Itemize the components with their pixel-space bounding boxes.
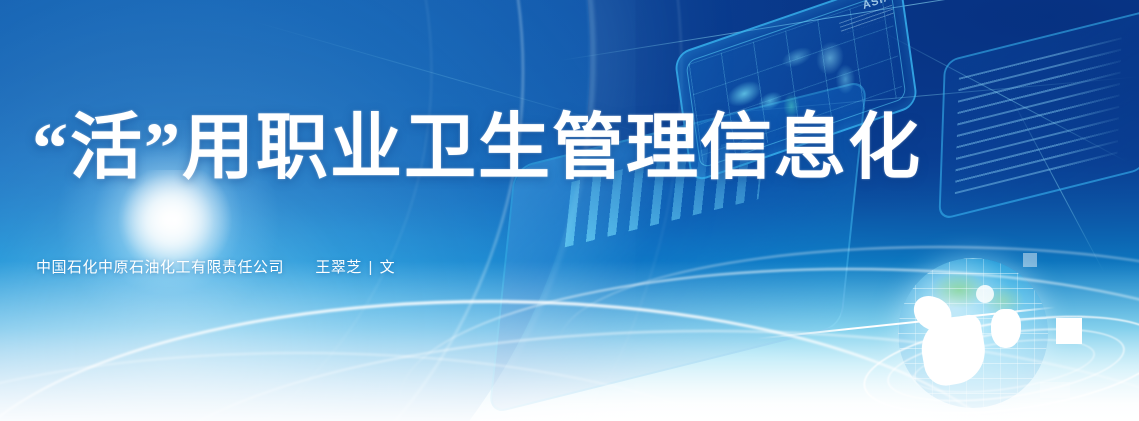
byline-role: 文 bbox=[380, 259, 396, 276]
page-title: “活”用职业卫生管理信息化 bbox=[32, 112, 922, 184]
byline-author: 王翠芝 bbox=[315, 259, 362, 276]
byline: 中国石化中原石油化工有限责任公司 王翠芝 | 文 bbox=[36, 258, 395, 278]
byline-organization: 中国石化中原石油化工有限责任公司 bbox=[36, 259, 284, 276]
banner-image: ASIA “活”用职业卫生管理信息化 中国石化中原石油化工有限责任公司 王翠芝 … bbox=[0, 0, 1139, 421]
document-text-lines bbox=[954, 37, 1121, 200]
byline-separator: | bbox=[367, 259, 375, 276]
bottom-haze bbox=[0, 261, 1139, 421]
